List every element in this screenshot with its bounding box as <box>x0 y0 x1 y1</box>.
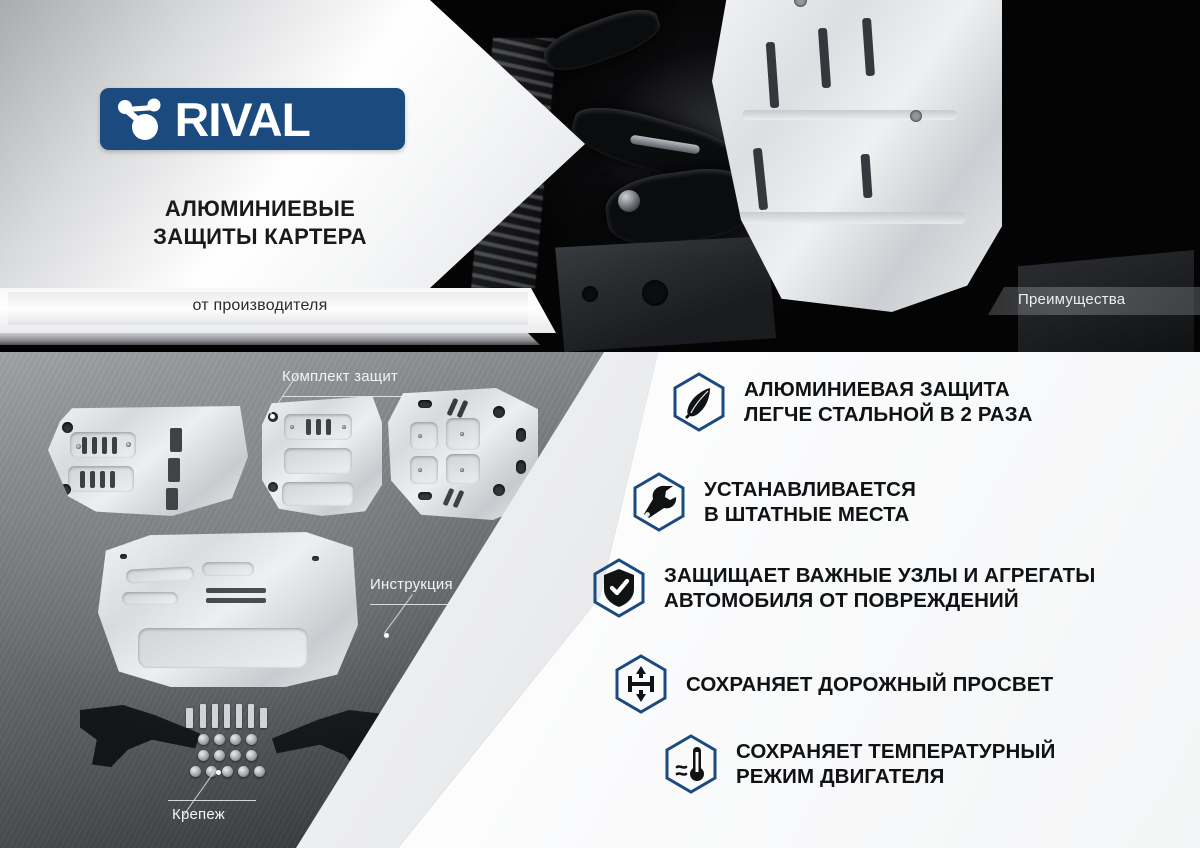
clearance-icon <box>614 654 668 714</box>
title-line-2: ЗАЩИТЫ КАРТЕРА <box>60 223 460 251</box>
brand-name: RIVAL <box>175 96 310 143</box>
advantage-item-fitment: УСТАНАВЛИВАЕТСЯ В ШТАТНЫЕ МЕСТА <box>632 472 916 532</box>
title-line-1: АЛЮМИНИЕВЫЕ <box>60 195 460 223</box>
advantages-list: АЛЮМИНИЕВАЯ ЗАЩИТА ЛЕГЧЕ СТАЛЬНОЙ В 2 РА… <box>0 352 1200 848</box>
thermometer-icon <box>664 734 718 794</box>
advantage-item-clearance: СОХРАНЯЕТ ДОРОЖНЫЙ ПРОСВЕТ <box>614 654 1053 714</box>
suspension-arm <box>539 1 665 80</box>
promo-banner: RIVAL АЛЮМИНИЕВЫЕ ЗАЩИТЫ КАРТЕРА от прои… <box>0 0 1200 848</box>
shield-check-icon <box>592 558 646 618</box>
advantage-label: СОХРАНЯЕТ ДОРОЖНЫЙ ПРОСВЕТ <box>686 672 1053 697</box>
fuel-tank <box>546 236 776 352</box>
page-title: АЛЮМИНИЕВЫЕ ЗАЩИТЫ КАРТЕРА <box>60 195 460 250</box>
advantage-item-protection: ЗАЩИЩАЕТ ВАЖНЫЕ УЗЛЫ И АГРЕГАТЫ АВТОМОБИ… <box>592 558 1095 618</box>
advantages-ribbon: Преимущества <box>988 287 1200 315</box>
bushing <box>618 190 640 212</box>
subtitle: от производителя <box>0 297 520 315</box>
feather-icon <box>672 372 726 432</box>
molecule-icon <box>114 94 166 144</box>
header-band: RIVAL АЛЮМИНИЕВЫЕ ЗАЩИТЫ КАРТЕРА от прои… <box>0 0 1200 352</box>
advantage-label: ЗАЩИЩАЕТ ВАЖНЫЕ УЗЛЫ И АГРЕГАТЫ АВТОМОБИ… <box>664 563 1095 613</box>
advantage-label: УСТАНАВЛИВАЕТСЯ В ШТАТНЫЕ МЕСТА <box>704 477 916 527</box>
wrench-icon <box>632 472 686 532</box>
advantage-label: СОХРАНЯЕТ ТЕМПЕРАТУРНЫЙ РЕЖИМ ДВИГАТЕЛЯ <box>736 739 1055 789</box>
rival-logo: RIVAL <box>100 88 405 150</box>
advantage-item-weight: АЛЮМИНИЕВАЯ ЗАЩИТА ЛЕГЧЕ СТАЛЬНОЙ В 2 РА… <box>672 372 1033 432</box>
subtitle-underline <box>0 333 540 345</box>
advantages-ribbon-label: Преимущества <box>1018 291 1125 308</box>
advantage-item-temperature: СОХРАНЯЕТ ТЕМПЕРАТУРНЫЙ РЕЖИМ ДВИГАТЕЛЯ <box>664 734 1055 794</box>
advantage-label: АЛЮМИНИЕВАЯ ЗАЩИТА ЛЕГЧЕ СТАЛЬНОЙ В 2 РА… <box>744 377 1033 427</box>
